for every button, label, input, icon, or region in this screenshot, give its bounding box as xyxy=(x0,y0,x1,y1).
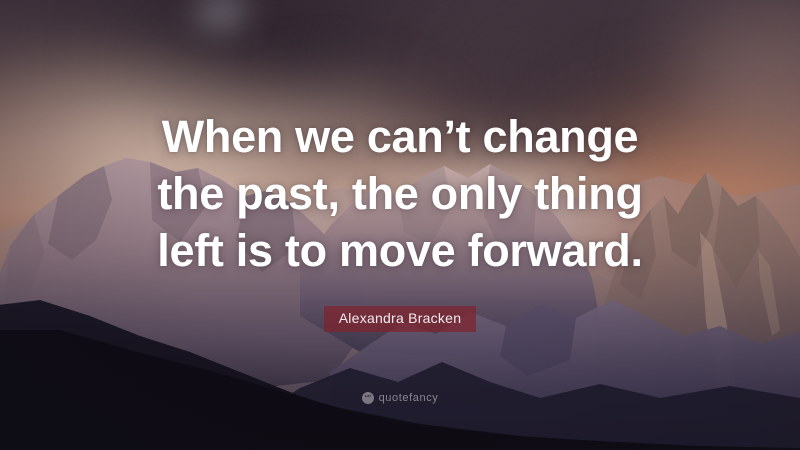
quote-text: When we can’t change the past, the only … xyxy=(0,108,800,279)
quotefancy-watermark[interactable]: “” quotefancy xyxy=(0,392,800,404)
author-attribution: Alexandra Bracken xyxy=(0,306,800,332)
watermark-label: quotefancy xyxy=(379,392,439,404)
quote-line-3: left is to move forward. xyxy=(0,222,800,279)
quotefancy-logo-icon: “” xyxy=(362,392,374,404)
quote-line-2: the past, the only thing xyxy=(0,165,800,222)
quote-poster: When we can’t change the past, the only … xyxy=(0,0,800,450)
quote-line-1: When we can’t change xyxy=(0,108,800,165)
author-name-badge[interactable]: Alexandra Bracken xyxy=(324,306,477,332)
